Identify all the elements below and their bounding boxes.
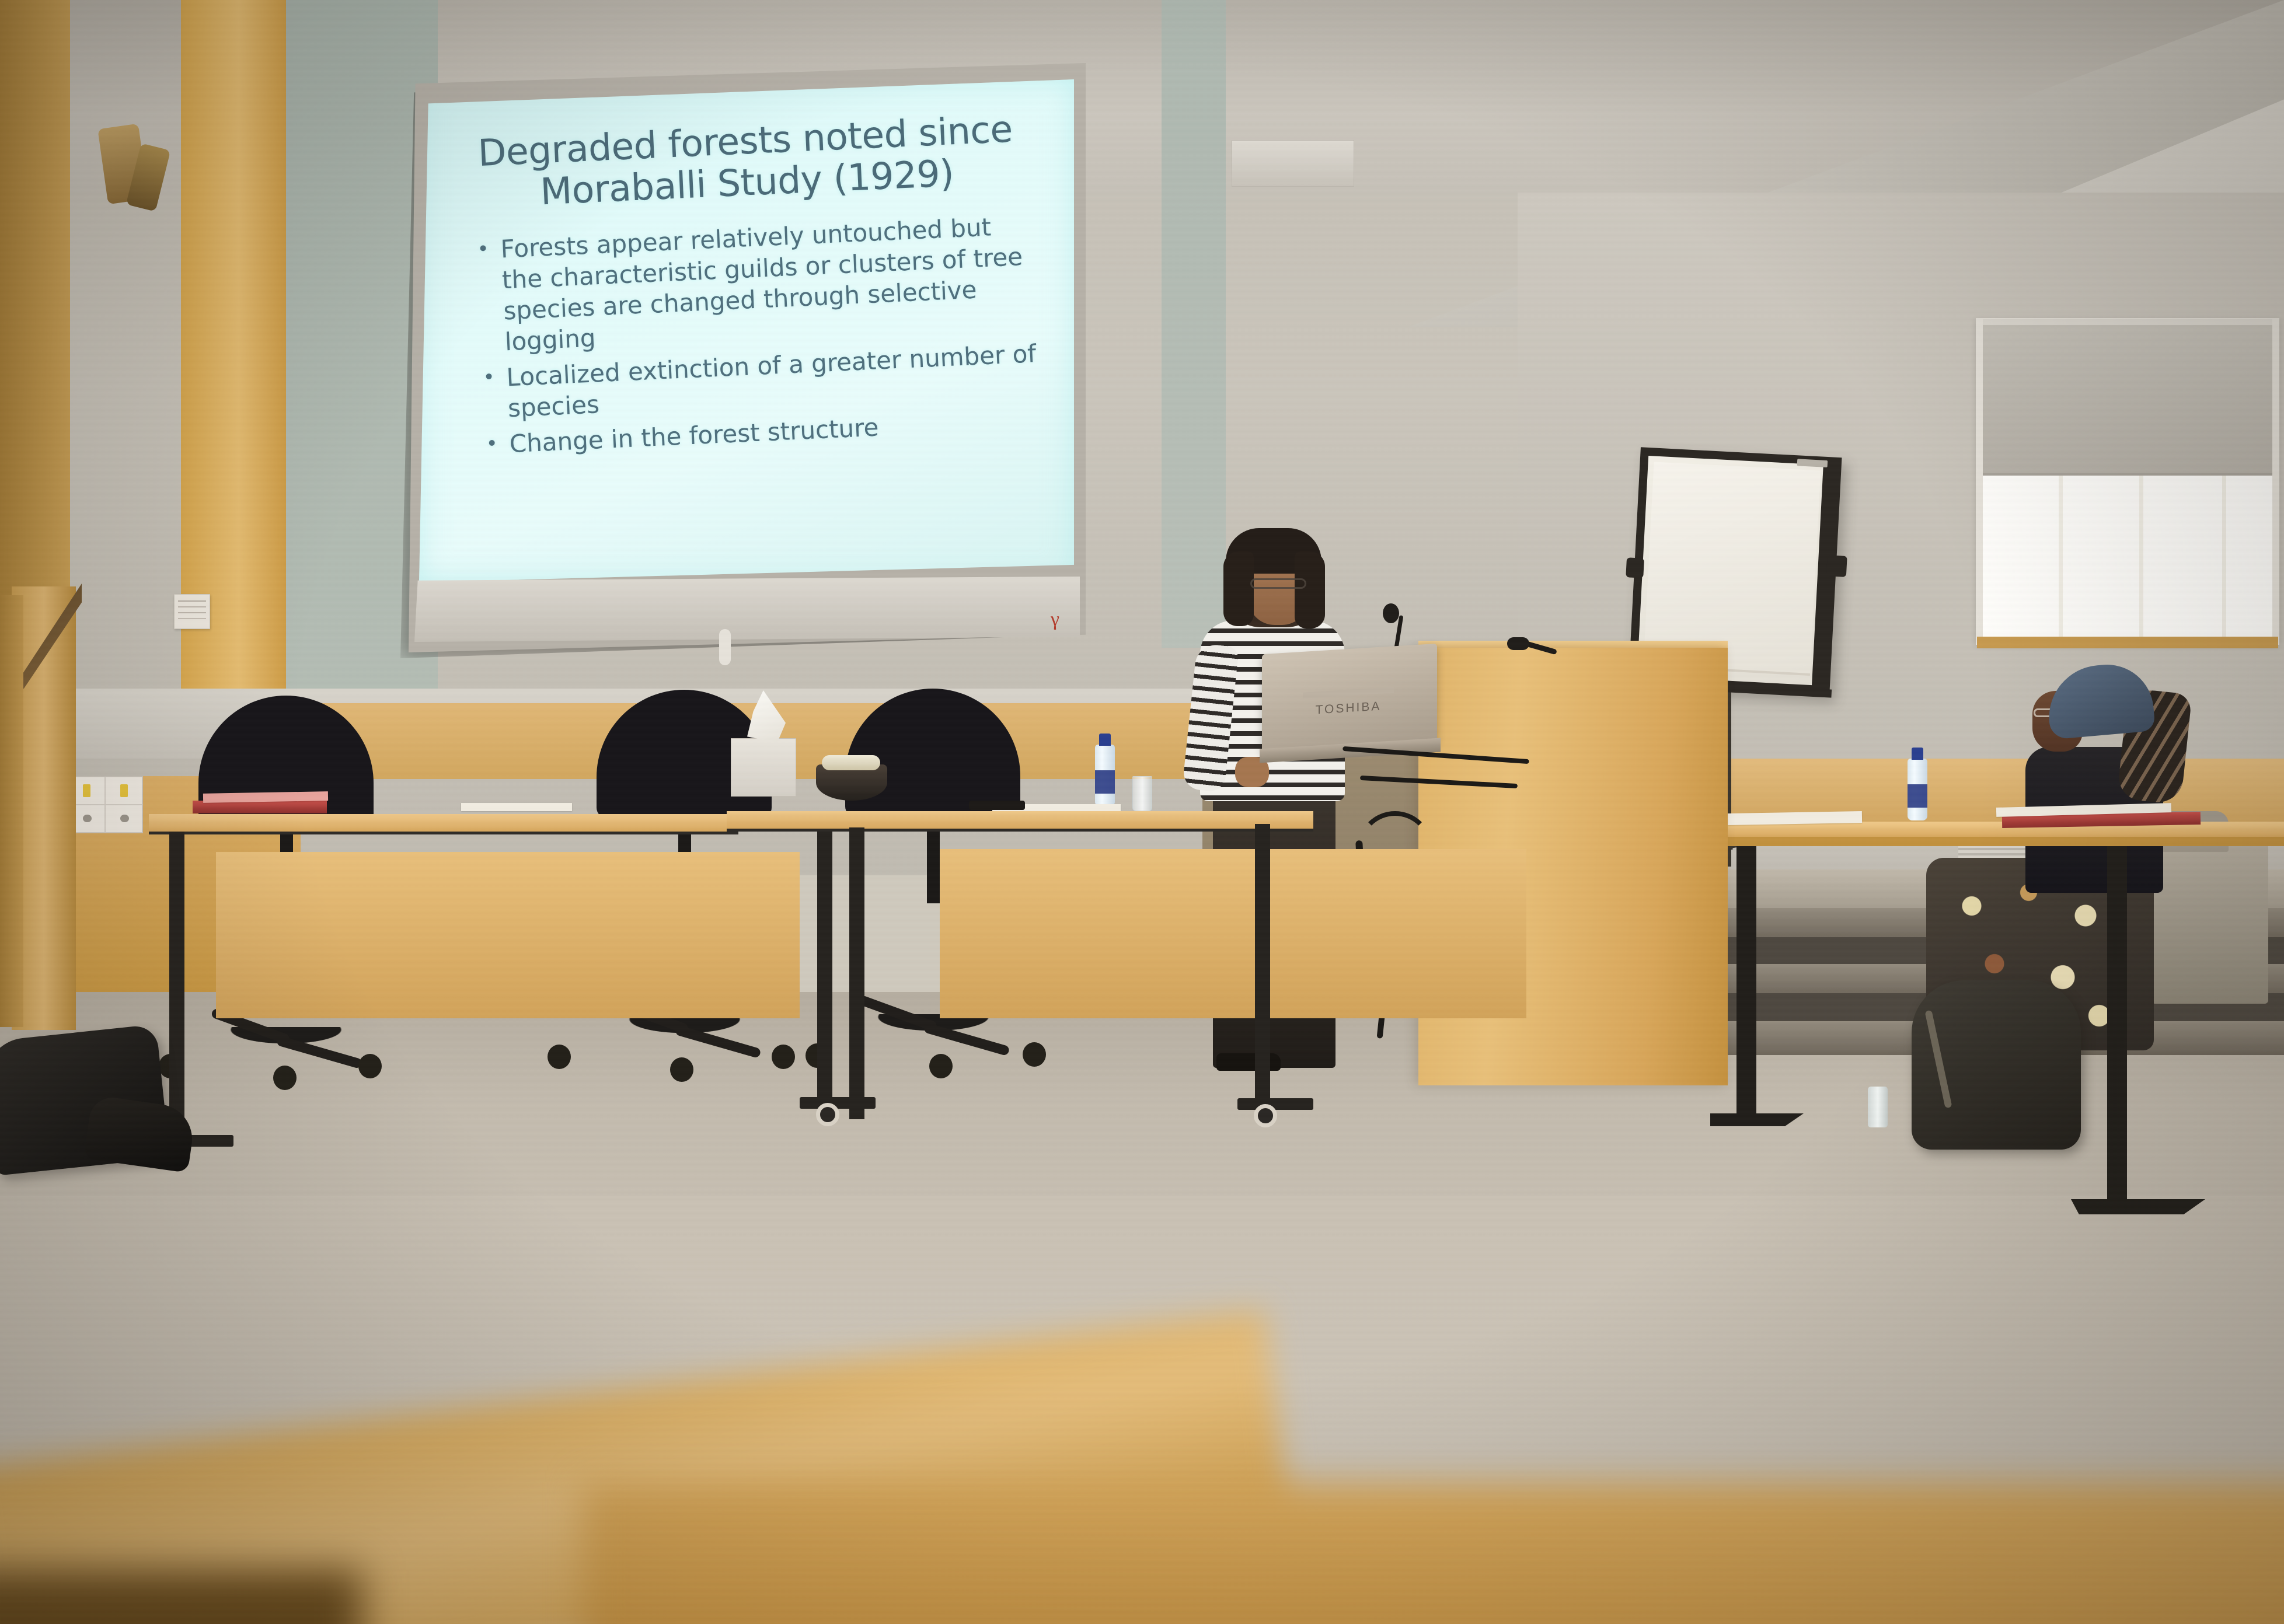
- bullet-marker-icon: •: [483, 363, 497, 425]
- presenter-hair-side-left: [1223, 551, 1254, 626]
- outlet-switch-2[interactable]: [105, 777, 142, 805]
- presenter-shoe: [1216, 1053, 1281, 1071]
- papers-right-desk[interactable]: [1728, 811, 1862, 825]
- table-leg: [817, 829, 832, 1103]
- screen-bottom-bar: [414, 577, 1080, 642]
- bullet-marker-icon: •: [477, 235, 494, 359]
- chair-caster: [358, 1054, 382, 1078]
- chair-caster: [929, 1054, 953, 1078]
- window-sill: [1977, 637, 2278, 648]
- panel-table-left-modesty-panel: [216, 852, 800, 1018]
- presentation-slide: Degraded forests noted since Moraballi S…: [444, 107, 1066, 595]
- table-foot: [1237, 1098, 1313, 1110]
- microphone-right[interactable]: [1501, 629, 1571, 670]
- table-leg: [849, 827, 864, 1119]
- outlet-socket-2[interactable]: [105, 805, 142, 833]
- projection-screen: Degraded forests noted since Moraballi S…: [409, 63, 1086, 652]
- chair-caster: [670, 1057, 693, 1082]
- bullet-marker-icon: •: [486, 429, 498, 461]
- panel-table-right-modesty-panel: [940, 849, 1526, 1018]
- chair-caster: [772, 1045, 795, 1069]
- slide-bullet-list: • Forests appear relatively untouched bu…: [449, 209, 1059, 462]
- panel-table-right-top: [727, 811, 1313, 829]
- microphone-head-icon: [1383, 603, 1399, 623]
- power-outlet-panel[interactable]: [67, 776, 143, 833]
- tissue-box[interactable]: [731, 738, 796, 797]
- auditorium-seat: [2152, 829, 2268, 1004]
- attendee-desk-leg-right: [2107, 846, 2127, 1208]
- table-leg: [1255, 824, 1270, 1104]
- table-caster: [1254, 1104, 1277, 1127]
- attendee-desk-edge: [1710, 837, 2284, 846]
- papers-panel-table-2[interactable]: [461, 803, 572, 811]
- wall-notice-card: [174, 594, 210, 629]
- flipchart-knob-right[interactable]: [1826, 555, 1847, 577]
- water-bottle-panel-table[interactable]: [1095, 745, 1115, 806]
- screen-pull-handle[interactable]: [719, 629, 731, 665]
- attendee-desk-foot-right: [2071, 1199, 2205, 1214]
- foreground-shadow: [0, 1570, 362, 1624]
- drinking-glass[interactable]: [1132, 776, 1152, 811]
- chair-caster: [1023, 1042, 1046, 1067]
- presenter-hair-side-right: [1295, 551, 1325, 628]
- flipchart-knob-left[interactable]: [1626, 557, 1644, 578]
- lecture-hall-photo: Degraded forests noted since Moraballi S…: [0, 0, 2284, 1624]
- presentation-remote[interactable]: [969, 801, 1025, 810]
- wood-dado-rail: [280, 703, 1331, 779]
- chair-2-base: [588, 1017, 781, 1043]
- chair-3-stem: [927, 816, 940, 903]
- attendee-desk-leg-left: [1736, 846, 1756, 1120]
- chair-caster: [548, 1045, 571, 1069]
- presenter-glasses: [1250, 578, 1306, 589]
- bottle-on-floor[interactable]: [1868, 1087, 1888, 1127]
- roller-blind[interactable]: [1983, 325, 2272, 476]
- window: [1976, 318, 2279, 645]
- ceiling-vent: [1232, 140, 1354, 187]
- backpack-zipper: [1924, 1010, 1952, 1109]
- foreground-desk-blurred-2: [584, 1482, 2284, 1624]
- screen-corner-tab: γ: [1051, 612, 1065, 629]
- candy-in-bowl: [822, 755, 880, 770]
- table-caster: [816, 1103, 839, 1126]
- yellow-column-far-left: [0, 0, 70, 677]
- attendee-head-wrap: [2045, 661, 2156, 739]
- panel-table-left-top: [149, 814, 738, 832]
- table-leg: [169, 832, 184, 1141]
- screen-surface: Degraded forests noted since Moraballi S…: [419, 79, 1074, 582]
- slide-bullet-1: • Forests appear relatively untouched bu…: [477, 209, 1055, 359]
- slide-title: Degraded forests noted since Moraballi S…: [444, 107, 1048, 217]
- laptop-lid[interactable]: [1262, 644, 1437, 752]
- water-bottle-right-desk[interactable]: [1908, 759, 1927, 820]
- backpack-on-floor[interactable]: [1912, 980, 2081, 1150]
- chair-caster: [273, 1066, 297, 1090]
- microphone-head-icon: [1507, 637, 1529, 650]
- chair-1-base: [190, 1027, 382, 1054]
- partition-side-edge: [0, 595, 23, 1027]
